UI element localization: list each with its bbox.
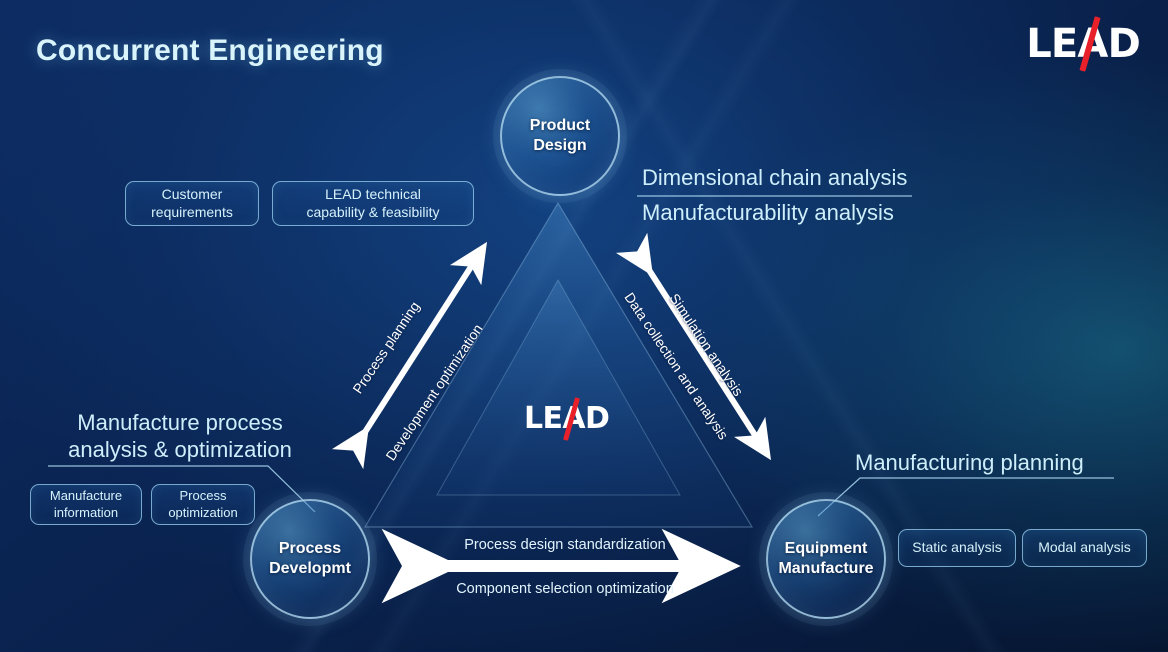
- annotation-manufacture-process-line1: Manufacture process: [77, 410, 282, 435]
- pill-lead-technical-line1: LEAD technical: [325, 186, 421, 202]
- pill-customer-requirements-line2: requirements: [151, 204, 233, 220]
- pill-lead-technical[interactable]: LEAD technical capability & feasibility: [272, 181, 474, 226]
- node-process-development-label-2: Developmt: [269, 560, 351, 577]
- node-product-design-label-2: Design: [533, 137, 586, 154]
- lead-logo: LEAD: [1026, 24, 1140, 64]
- annotation-dimensional-chain: Dimensional chain analysis: [642, 165, 942, 192]
- pill-customer-requirements-line1: Customer: [162, 186, 223, 202]
- pill-modal-analysis[interactable]: Modal analysis: [1022, 529, 1147, 567]
- pill-lead-technical-line2: capability & feasibility: [306, 204, 439, 220]
- pill-customer-requirements[interactable]: Customer requirements: [125, 181, 259, 226]
- pill-process-optimization-line1: Process: [180, 488, 227, 503]
- pill-static-analysis[interactable]: Static analysis: [898, 529, 1016, 567]
- caption-process-design-standardization: Process design standardization: [395, 537, 735, 553]
- page-title: Concurrent Engineering: [36, 34, 384, 68]
- node-product-design-label-1: Product: [530, 117, 590, 134]
- node-product-design[interactable]: Product Design: [500, 76, 620, 196]
- node-equipment-manufacture-label-2: Manufacture: [778, 560, 873, 577]
- pill-process-optimization-line2: optimization: [168, 505, 237, 520]
- annotation-manufacturability: Manufacturability analysis: [642, 200, 952, 227]
- node-process-development-label-1: Process: [279, 540, 341, 557]
- lead-logo-center: LEAD: [524, 404, 609, 434]
- pill-manufacture-information-line1: Manufacture: [50, 488, 122, 503]
- pill-manufacture-information-line2: information: [54, 505, 118, 520]
- pill-manufacture-information[interactable]: Manufacture information: [30, 484, 142, 525]
- node-process-development[interactable]: Process Developmt: [250, 499, 370, 619]
- node-equipment-manufacture[interactable]: Equipment Manufacture: [766, 499, 886, 619]
- annotation-manufacture-process: Manufacture process analysis & optimizat…: [40, 410, 320, 464]
- annotation-manufacturing-planning: Manufacturing planning: [855, 450, 1125, 477]
- pill-static-analysis-label: Static analysis: [912, 539, 1001, 557]
- caption-component-selection-optimization: Component selection optimization: [395, 581, 735, 597]
- pill-modal-analysis-label: Modal analysis: [1038, 539, 1131, 557]
- slide-canvas: Concurrent Engineering LEAD LEAD Product…: [0, 0, 1168, 652]
- pill-process-optimization[interactable]: Process optimization: [151, 484, 255, 525]
- node-equipment-manufacture-label-1: Equipment: [785, 540, 868, 557]
- annotation-manufacture-process-line2: analysis & optimization: [68, 437, 292, 462]
